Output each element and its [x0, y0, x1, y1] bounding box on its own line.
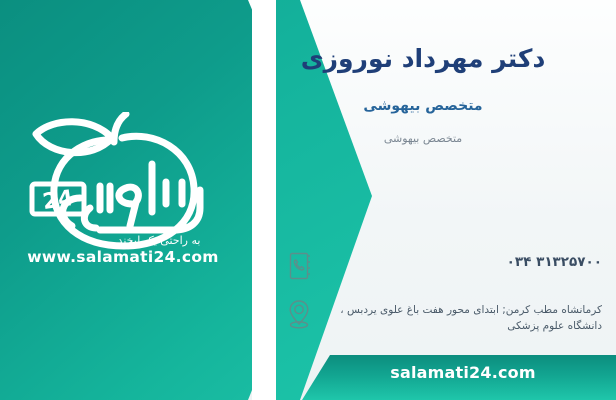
- contact-row-address: کرمانشاه مطب کرمن; ابتدای محور هفت باغ ع…: [282, 296, 602, 335]
- svg-text:24: 24: [41, 186, 75, 215]
- doctor-specialty-primary: متخصص بیهوشی: [258, 98, 588, 114]
- address-text: کرمانشاه مطب کرمن; ابتدای محور هفت باغ ع…: [326, 296, 602, 335]
- logo-tagline: به راحتی یک لبخند: [118, 234, 201, 247]
- contact-row-phone: ۳۱۳۲۵۷۰۰ ۰۳۴: [282, 248, 602, 284]
- address-line-2: دانشگاه علوم پزشکی: [326, 318, 602, 334]
- doctor-specialty-secondary: متخصص بیهوشی: [258, 132, 588, 145]
- footer-website-url[interactable]: salamati24.com: [310, 355, 616, 400]
- contact-block: ۳۱۳۲۵۷۰۰ ۰۳۴ کرمانشاه مطب کرمن; ابتدای م…: [282, 248, 602, 347]
- doctor-name: دکتر مهرداد نوروزی: [258, 44, 588, 73]
- map-pin-icon: [282, 296, 316, 332]
- phone-book-icon: [282, 248, 316, 284]
- phone-number[interactable]: ۳۱۳۲۵۷۰۰ ۰۳۴: [326, 248, 602, 270]
- address-line-1: کرمانشاه مطب کرمن; ابتدای محور هفت باغ ع…: [326, 302, 602, 318]
- brand-logo: 24 به راحتی یک لبخند www.salamati24.com: [14, 112, 232, 282]
- logo-website-url: www.salamati24.com: [14, 248, 232, 266]
- business-card: 24 به راحتی یک لبخند www.salamati24.com …: [0, 0, 616, 400]
- apple-logo-icon: 24 به راحتی یک لبخند: [14, 112, 232, 252]
